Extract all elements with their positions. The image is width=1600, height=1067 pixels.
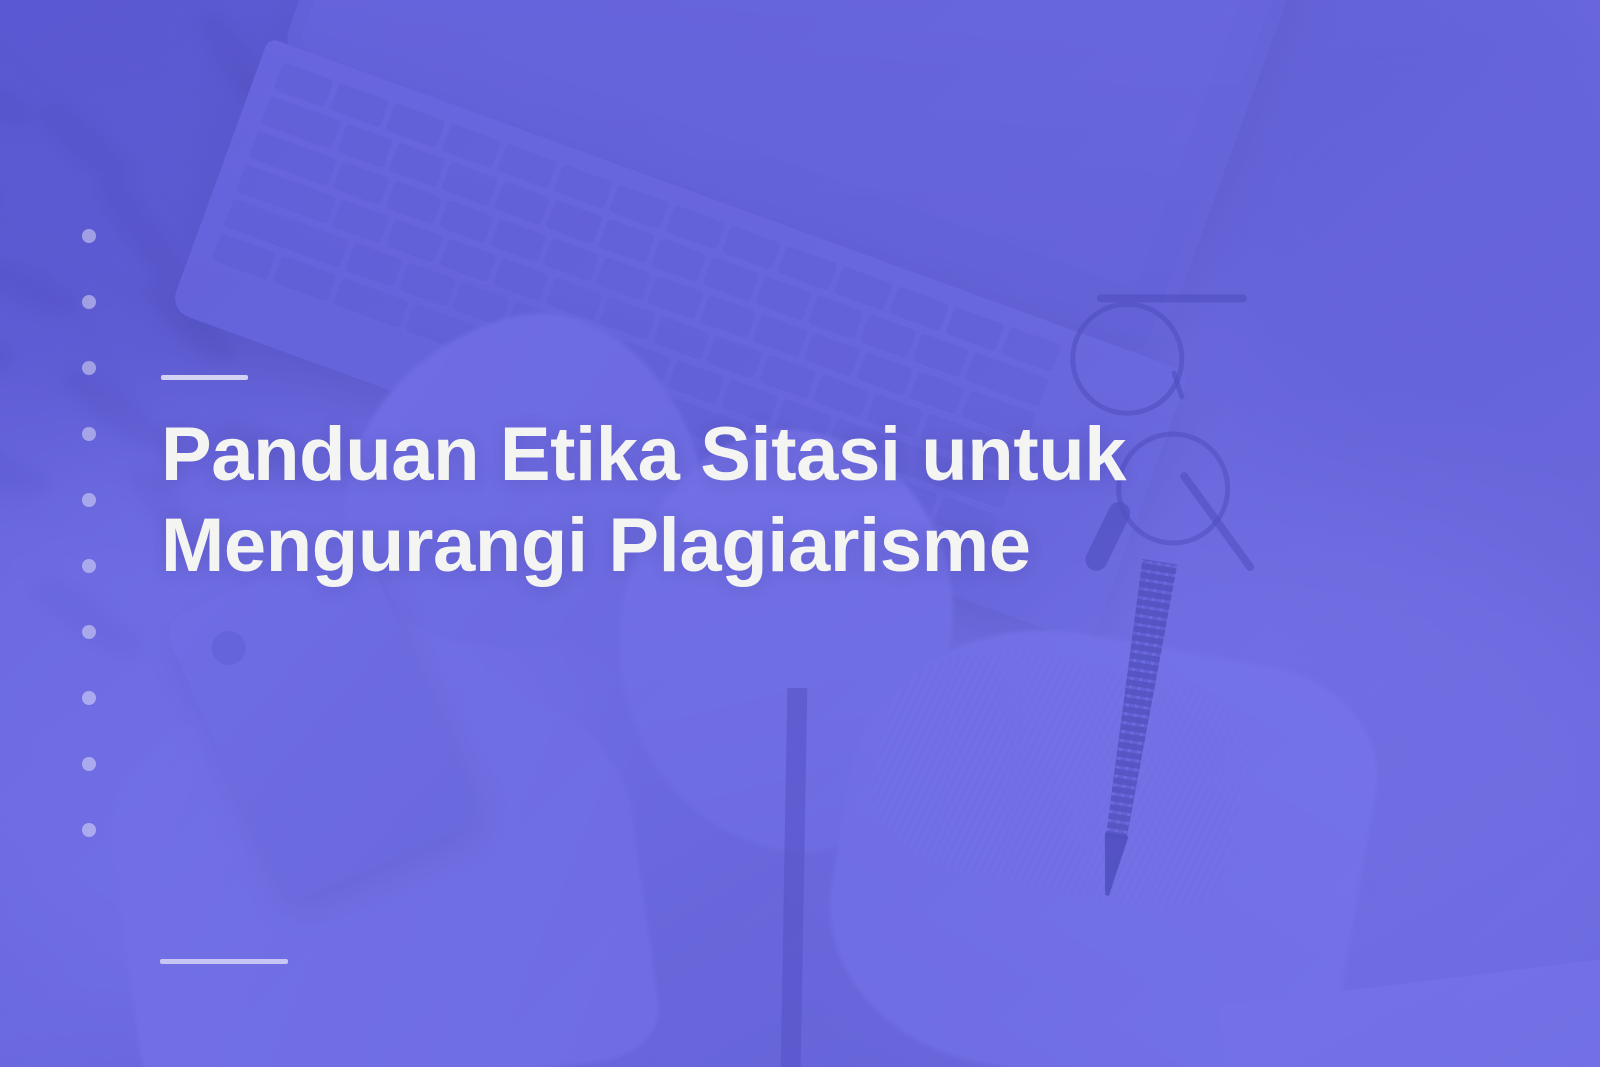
slide-progress-dot [82,493,96,507]
slide-foreground: Panduan Etika Sitasi untuk Mengurangi Pl… [0,0,1600,1067]
slide-progress-dot [82,559,96,573]
slide-progress-dot [82,691,96,705]
slide-progress-dot [82,295,96,309]
slide-progress-dot [82,823,96,837]
slide-progress-rail [82,229,96,889]
page-title: Panduan Etika Sitasi untuk Mengurangi Pl… [161,409,1301,591]
slide-progress-dot [82,361,96,375]
slide-progress-dot [82,229,96,243]
slide-progress-dot [82,625,96,639]
slide-progress-dot [82,757,96,771]
title-slide: Panduan Etika Sitasi untuk Mengurangi Pl… [0,0,1600,1067]
slide-progress-dot [82,427,96,441]
accent-rule-bottom [160,959,288,964]
accent-rule-top [161,375,248,380]
slide-content: Panduan Etika Sitasi untuk Mengurangi Pl… [161,375,1301,591]
